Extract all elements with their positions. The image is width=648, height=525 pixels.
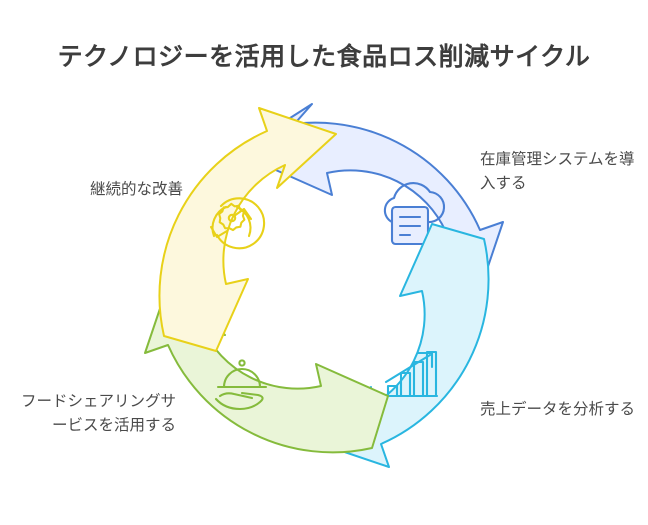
- cycle-label-analysis: 売上データを分析する: [480, 398, 640, 422]
- cycle-label-inventory: 在庫管理システムを導入する: [480, 148, 640, 196]
- cycle-diagram-svg: [0, 0, 648, 525]
- cycle-label-sharing: フードシェアリングサービスを活用する: [8, 390, 176, 438]
- cycle-arrow-improvement: [159, 108, 336, 351]
- cycle-label-improvement: 継続的な改善: [18, 178, 183, 202]
- cycle-diagram: [0, 0, 648, 525]
- cycle-segment-improvement[interactable]: [159, 108, 336, 351]
